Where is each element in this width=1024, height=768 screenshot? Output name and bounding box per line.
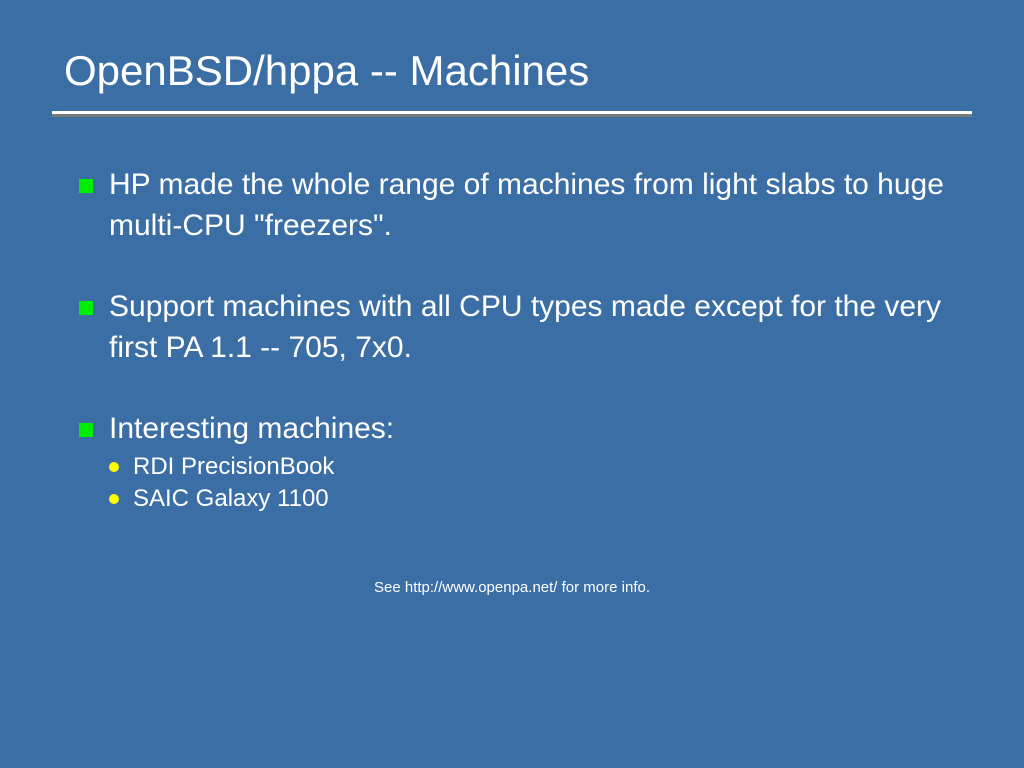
page-title: OpenBSD/hppa -- Machines (52, 46, 972, 96)
footnote-text: See http://www.openpa.net/ for more info… (0, 578, 1024, 598)
list-item: Interesting machines: RDI PrecisionBook … (79, 408, 959, 515)
yellow-dot-bullet-icon (109, 462, 119, 472)
list-item-text: HP made the whole range of machines from… (109, 164, 959, 246)
green-square-bullet-icon (79, 423, 93, 437)
sub-bullet-list: RDI PrecisionBook SAIC Galaxy 1100 (109, 451, 959, 515)
title-divider-rule-shadow (52, 114, 972, 117)
green-square-bullet-icon (79, 179, 93, 193)
title-block: OpenBSD/hppa -- Machines (52, 46, 972, 96)
sub-list-item-text: SAIC Galaxy 1100 (133, 485, 329, 512)
list-item-text: Support machines with all CPU types made… (109, 286, 959, 368)
list-item: HP made the whole range of machines from… (79, 164, 959, 246)
green-square-bullet-icon (79, 301, 93, 315)
sub-list-item-text: RDI PrecisionBook (133, 453, 334, 480)
presentation-slide: OpenBSD/hppa -- Machines HP made the who… (0, 0, 1024, 768)
bullet-list: HP made the whole range of machines from… (79, 164, 959, 515)
yellow-dot-bullet-icon (109, 494, 119, 504)
sub-list-item: RDI PrecisionBook (109, 451, 959, 483)
list-item: Support machines with all CPU types made… (79, 286, 959, 368)
list-item-text: Interesting machines: (109, 408, 959, 449)
sub-list-item: SAIC Galaxy 1100 (109, 483, 959, 515)
